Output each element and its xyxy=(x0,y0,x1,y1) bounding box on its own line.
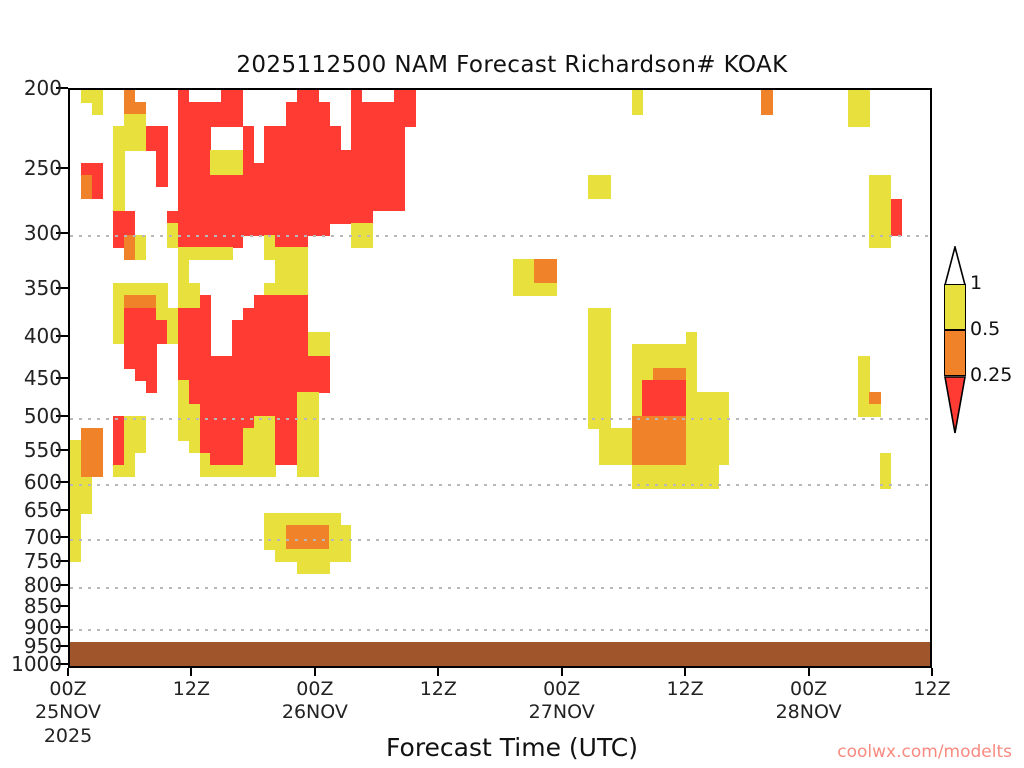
x-tick-label: 00Z26NOV xyxy=(282,678,348,724)
colorbar-label: 1 xyxy=(970,272,982,294)
colorbar-bottom-arrow xyxy=(944,376,966,434)
y-tick-label: 600 xyxy=(24,472,62,492)
x-tick-label: 12Z xyxy=(666,678,703,700)
x-tick-hour: 00Z xyxy=(776,678,842,700)
y-tick-label: 500 xyxy=(24,406,62,426)
x-tick-mark xyxy=(437,668,439,676)
colorbar-segment-yellow xyxy=(944,284,966,330)
y-tick-label: 250 xyxy=(24,158,62,178)
page-title: 2025112500 NAM Forecast Richardson# KOAK xyxy=(0,52,1024,78)
x-tick-day: 26NOV xyxy=(282,700,348,724)
y-tick-label: 200 xyxy=(24,78,62,98)
terrain-layer xyxy=(70,90,930,666)
x-tick-mark xyxy=(67,668,69,676)
x-tick-day: 27NOV xyxy=(529,700,595,724)
x-tick-mark xyxy=(931,668,933,676)
x-tick-label: 00Z27NOV xyxy=(529,678,595,724)
x-tick-label: 00Z28NOV xyxy=(776,678,842,724)
y-tick-label: 450 xyxy=(24,368,62,388)
x-tick-mark xyxy=(808,668,810,676)
x-tick-mark xyxy=(314,668,316,676)
y-tick-label: 800 xyxy=(24,575,62,595)
x-tick-mark xyxy=(561,668,563,676)
watermark: coolwx.com/modelts xyxy=(837,742,1012,762)
chart-page: 2025112500 NAM Forecast Richardson# KOAK… xyxy=(0,0,1024,768)
y-tick-label: 650 xyxy=(24,500,62,520)
terrain-fill xyxy=(70,642,930,666)
x-tick-hour: 12Z xyxy=(913,678,950,700)
x-tick-hour: 12Z xyxy=(420,678,457,700)
x-tick-label: 12Z xyxy=(913,678,950,700)
x-tick-day: 28NOV xyxy=(776,700,842,724)
y-tick-label: 750 xyxy=(24,551,62,571)
x-tick-hour: 00Z xyxy=(35,678,101,700)
x-tick-label: 12Z xyxy=(173,678,210,700)
x-tick-mark xyxy=(190,668,192,676)
y-tick-label: 300 xyxy=(24,223,62,243)
y-tick-label: 1000 xyxy=(11,654,62,674)
y-tick-label: 400 xyxy=(24,326,62,346)
x-tick-hour: 12Z xyxy=(173,678,210,700)
x-tick-hour: 12Z xyxy=(666,678,703,700)
colorbar-label: 0.25 xyxy=(970,364,1012,386)
y-tick-label: 550 xyxy=(24,440,62,460)
y-tick-label: 850 xyxy=(24,596,62,616)
x-tick-label: 12Z xyxy=(420,678,457,700)
plot-area xyxy=(68,88,932,668)
x-tick-mark xyxy=(684,668,686,676)
x-tick-hour: 00Z xyxy=(529,678,595,700)
colorbar-top-arrow xyxy=(944,246,966,286)
y-tick-label: 350 xyxy=(24,278,62,298)
colorbar-segment-orange xyxy=(944,330,966,376)
colorbar-legend: 10.50.25 xyxy=(944,284,966,482)
x-tick-day: 25NOV xyxy=(35,700,101,724)
colorbar-label: 0.5 xyxy=(970,318,1000,340)
x-tick-hour: 00Z xyxy=(282,678,348,700)
y-tick-label: 700 xyxy=(24,527,62,547)
